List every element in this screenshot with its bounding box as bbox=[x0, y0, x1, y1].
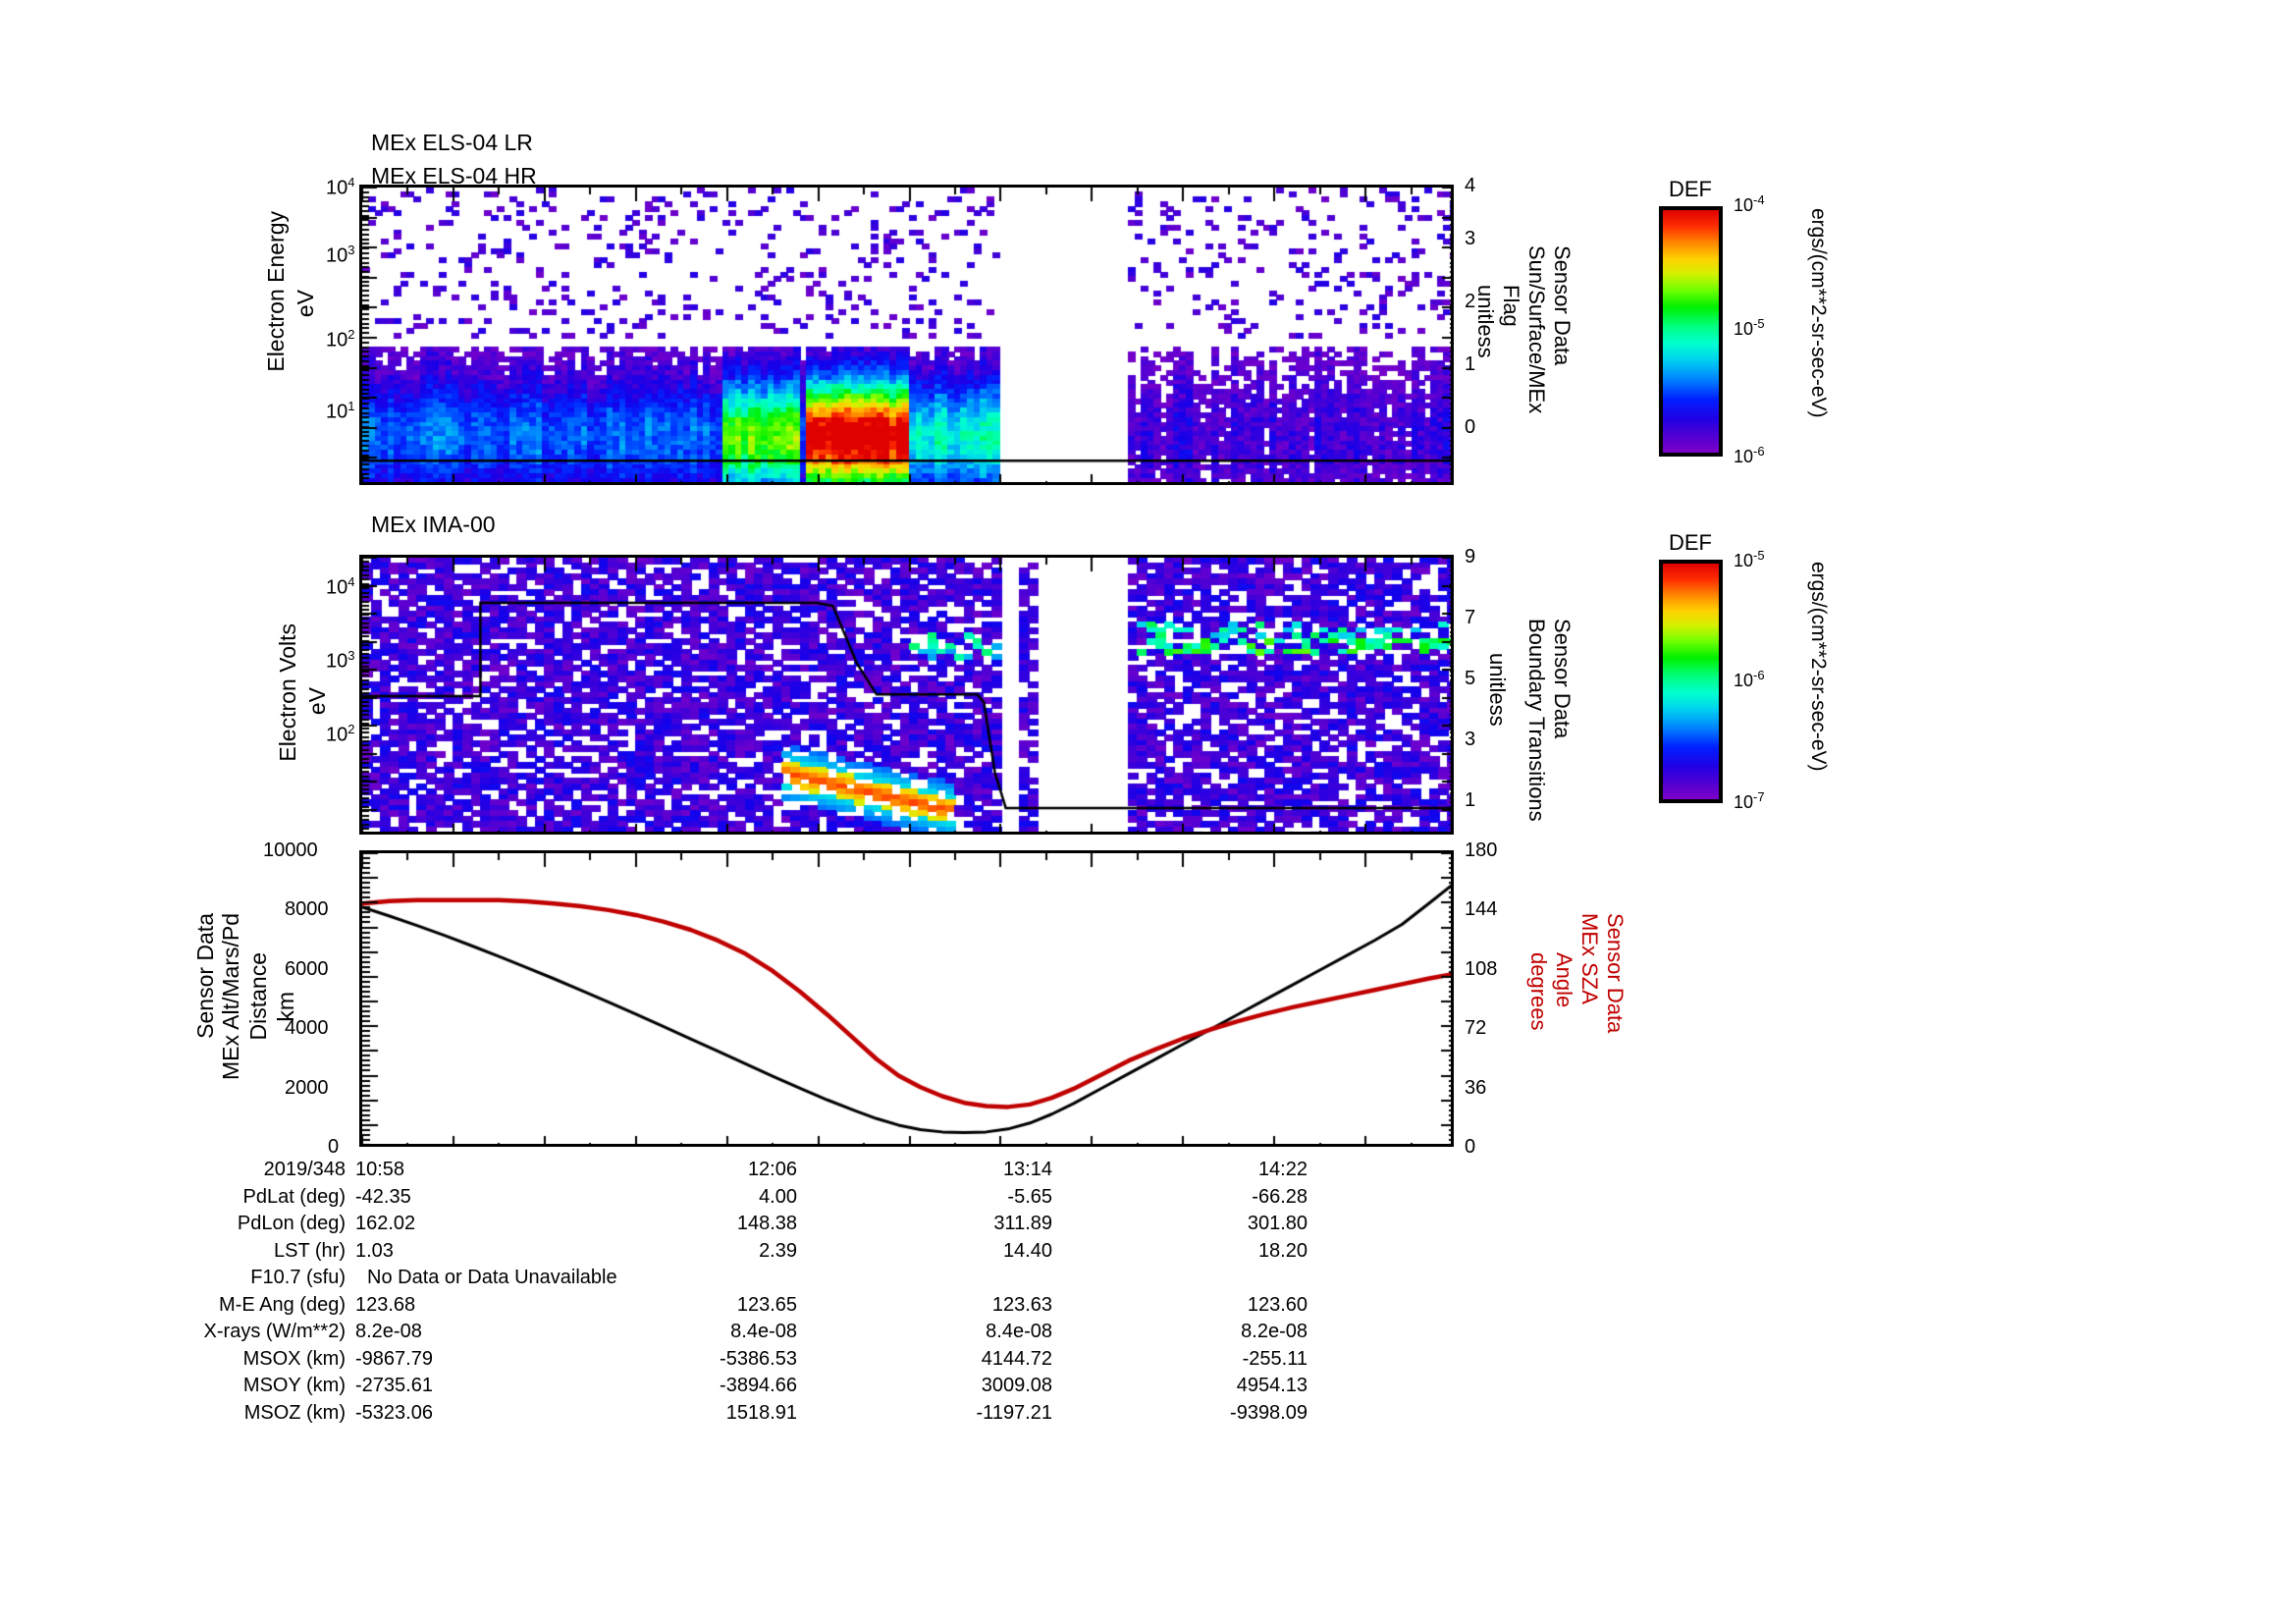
info-cell: 4954.13 bbox=[1121, 1375, 1308, 1397]
panel2-y2label: Sensor Data bbox=[1549, 619, 1575, 738]
panel1-yunit: eV bbox=[293, 290, 319, 317]
info-cell: -42.35 bbox=[355, 1186, 542, 1209]
panel2-y2sub-group: Boundary Transitions bbox=[1523, 619, 1549, 827]
colorbar2-unit: ergs/(cm**2-sr-sec-eV) bbox=[1806, 562, 1830, 772]
info-row-label: MSOX (km) bbox=[0, 1348, 346, 1371]
info-cell: 311.89 bbox=[866, 1213, 1052, 1235]
panel3-ylabel2-group: MEx Alt/Mars/Pd bbox=[218, 913, 244, 1085]
panel3-y2-tick-108: 108 bbox=[1465, 958, 1497, 981]
panel1-title-lr: MEx ELS-04 LR bbox=[371, 130, 533, 156]
colorbar1 bbox=[1659, 206, 1723, 457]
colorbar1-unit: ergs/(cm**2-sr-sec-eV) bbox=[1806, 208, 1830, 418]
info-cell: 14:22 bbox=[1121, 1159, 1308, 1181]
panel3-y2-tick-144: 144 bbox=[1465, 898, 1497, 921]
panel3-y2-tick-36: 36 bbox=[1465, 1077, 1486, 1100]
panel2-title: MEx IMA-00 bbox=[371, 512, 496, 538]
info-cell: 4.00 bbox=[611, 1186, 797, 1209]
colorbar2-unit-group: ergs/(cm**2-sr-sec-eV) bbox=[1806, 562, 1830, 777]
info-row-label: MSOZ (km) bbox=[0, 1402, 346, 1425]
panel3-y2label3-group: Angle bbox=[1551, 952, 1576, 1012]
info-cell: 162.02 bbox=[355, 1213, 542, 1235]
panel1-y2label: Sensor Data bbox=[1549, 245, 1575, 365]
panel1-y2unit: unitless bbox=[1472, 285, 1498, 358]
info-row-label: X-rays (W/m**2) bbox=[0, 1321, 346, 1343]
info-cell: 123.68 bbox=[355, 1294, 542, 1317]
panel3-y-tick-8000: 8000 bbox=[285, 898, 329, 921]
info-cell: 4144.72 bbox=[866, 1348, 1052, 1371]
panel3-y2label-group: Sensor Data bbox=[1602, 913, 1628, 1038]
info-cell: -9867.79 bbox=[355, 1348, 542, 1371]
info-cell: -255.11 bbox=[1121, 1348, 1308, 1371]
info-cell: -3894.66 bbox=[611, 1375, 797, 1397]
panel3-ylabel3: Distance bbox=[245, 952, 272, 1040]
info-cell: 301.80 bbox=[1121, 1213, 1308, 1235]
panel3-plot-area[interactable] bbox=[359, 850, 1454, 1147]
panel3-y-tick-10000: 10000 bbox=[263, 839, 318, 862]
panel3-y2label: Sensor Data bbox=[1602, 913, 1628, 1033]
info-cell: 8.4e-08 bbox=[611, 1321, 797, 1343]
panel1-y2name-group: Flag bbox=[1498, 285, 1523, 332]
info-cell: 8.2e-08 bbox=[355, 1321, 542, 1343]
panel2-y2unit: unitless bbox=[1484, 653, 1510, 727]
info-cell: 123.63 bbox=[866, 1294, 1052, 1317]
panel3-ylabel-group: Sensor Data bbox=[192, 913, 219, 1044]
info-cell: 12:06 bbox=[611, 1159, 797, 1181]
info-cell: 148.38 bbox=[611, 1213, 797, 1235]
panel2-y2label-group: Sensor Data bbox=[1549, 619, 1575, 743]
info-row-label: 2019/348 bbox=[0, 1159, 346, 1181]
panel1-y2unit-group: unitless bbox=[1472, 285, 1498, 363]
info-cell: 8.2e-08 bbox=[1121, 1321, 1308, 1343]
info-cell: -5323.06 bbox=[355, 1402, 542, 1425]
info-row-label: PdLon (deg) bbox=[0, 1213, 346, 1235]
panel2-y2-tick-0: 1 bbox=[1465, 789, 1475, 812]
info-cell: -2735.61 bbox=[355, 1375, 542, 1397]
info-row-label: M-E Ang (deg) bbox=[0, 1294, 346, 1317]
panel3-ylabel3-group: Distance bbox=[245, 952, 272, 1045]
panel3-y2label2: MEx SZA bbox=[1576, 913, 1602, 1004]
panel1-ylabel-group: Electron Energy bbox=[263, 211, 290, 377]
panel1-y2label-group: Sensor Data bbox=[1549, 245, 1575, 370]
panel3-y-tick-0: 0 bbox=[328, 1136, 339, 1159]
info-cell: -5.65 bbox=[866, 1186, 1052, 1209]
panel3-y2unit: degrees bbox=[1525, 952, 1551, 1031]
info-cell: 10:58 bbox=[355, 1159, 542, 1181]
panel3-y2unit-group: degrees bbox=[1525, 952, 1551, 1036]
colorbar2 bbox=[1659, 560, 1723, 803]
info-row-label: MSOY (km) bbox=[0, 1375, 346, 1397]
panel2-y2unit-group: unitless bbox=[1484, 653, 1510, 731]
panel1-ylabel: Electron Energy bbox=[263, 211, 290, 372]
info-cell: 14.40 bbox=[866, 1240, 1052, 1263]
panel1-y2name: Flag bbox=[1498, 285, 1523, 327]
info-cell: 1.03 bbox=[355, 1240, 542, 1263]
info-cell: 3009.08 bbox=[866, 1375, 1052, 1397]
panel1-y2-tick-3: 3 bbox=[1465, 228, 1475, 250]
panel2-plot-area[interactable] bbox=[359, 555, 1454, 835]
panel2-yunit-group: eV bbox=[304, 687, 331, 720]
info-cell: 8.4e-08 bbox=[866, 1321, 1052, 1343]
panel1-y2sub: Sun/Surface/MEx bbox=[1523, 245, 1549, 413]
panel2-y2sub: Boundary Transitions bbox=[1523, 619, 1549, 822]
info-cell: -66.28 bbox=[1121, 1186, 1308, 1209]
panel1-y2-tick-0: 0 bbox=[1465, 416, 1475, 439]
panel3-y2-tick-180: 180 bbox=[1465, 839, 1497, 862]
colorbar1-unit-group: ergs/(cm**2-sr-sec-eV) bbox=[1806, 208, 1830, 423]
panel2-yunit: eV bbox=[304, 687, 331, 715]
info-cell: 18.20 bbox=[1121, 1240, 1308, 1263]
colorbar1-title: DEF bbox=[1641, 177, 1739, 202]
panel3-y-tick-2000: 2000 bbox=[285, 1077, 329, 1100]
info-row-wide-value: No Data or Data Unavailable bbox=[367, 1267, 617, 1289]
panel3-y2-tick-72: 72 bbox=[1465, 1017, 1486, 1040]
info-cell: 1518.91 bbox=[611, 1402, 797, 1425]
panel3-y-tick-4000: 4000 bbox=[285, 1017, 329, 1040]
panel2-y2-tick-4: 9 bbox=[1465, 546, 1475, 568]
panel3-y2-tick-0: 0 bbox=[1465, 1136, 1475, 1159]
panel2-ylabel: Electron Volts bbox=[275, 623, 301, 762]
panel2-y2-tick-1: 3 bbox=[1465, 729, 1475, 751]
panel2-y2-tick-3: 7 bbox=[1465, 607, 1475, 629]
info-cell: -9398.09 bbox=[1121, 1402, 1308, 1425]
panel1-plot-area[interactable] bbox=[359, 185, 1454, 485]
panel1-y2-tick-4: 4 bbox=[1465, 175, 1475, 197]
info-row-label: PdLat (deg) bbox=[0, 1186, 346, 1209]
panel3-y-tick-6000: 6000 bbox=[285, 958, 329, 981]
colorbar2-title: DEF bbox=[1641, 530, 1739, 556]
info-cell: 13:14 bbox=[866, 1159, 1052, 1181]
panel3-y2label2-group: MEx SZA bbox=[1576, 913, 1602, 1009]
info-cell: -1197.21 bbox=[866, 1402, 1052, 1425]
panel2-y2-tick-2: 5 bbox=[1465, 668, 1475, 690]
panel1-y2sub-group: Sun/Surface/MEx bbox=[1523, 245, 1549, 418]
panel3-y2label3: Angle bbox=[1551, 952, 1576, 1007]
info-row-label: F10.7 (sfu) bbox=[0, 1267, 346, 1289]
panel3-ylabel2: MEx Alt/Mars/Pd bbox=[218, 913, 244, 1080]
panel2-ylabel-group: Electron Volts bbox=[275, 623, 301, 767]
info-cell: 123.65 bbox=[611, 1294, 797, 1317]
info-cell: -5386.53 bbox=[611, 1348, 797, 1371]
info-cell: 2.39 bbox=[611, 1240, 797, 1263]
panel1-yunit-group: eV bbox=[293, 290, 319, 322]
panel3-ylabel: Sensor Data bbox=[192, 913, 219, 1039]
info-row-label: LST (hr) bbox=[0, 1240, 346, 1263]
info-cell: 123.60 bbox=[1121, 1294, 1308, 1317]
